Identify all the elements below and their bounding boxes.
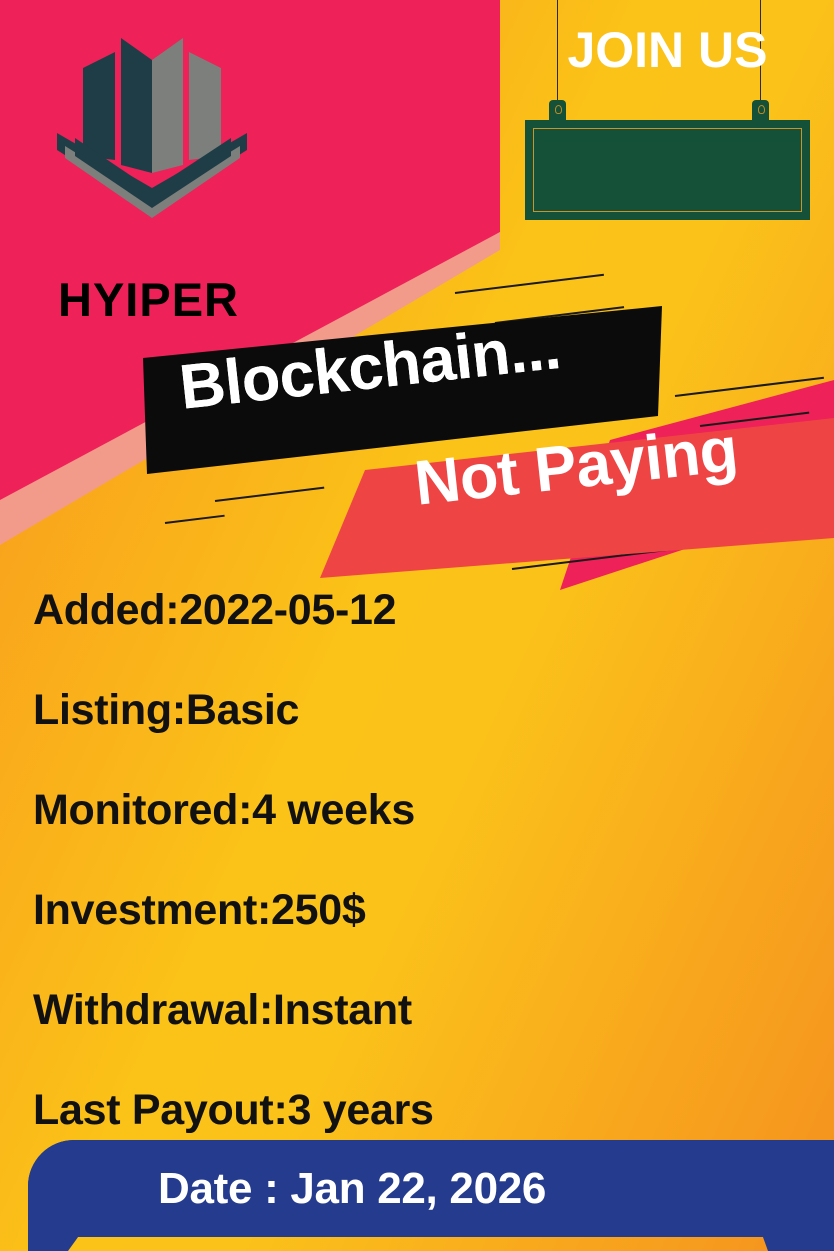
detail-label: Last Payout bbox=[33, 1086, 273, 1135]
sign-board bbox=[525, 120, 810, 220]
brand-name: HYIPER bbox=[58, 272, 239, 327]
details-list: Added : 2022-05-12 Listing : Basic Monit… bbox=[33, 560, 813, 1160]
decorative-line bbox=[165, 515, 225, 524]
detail-label: Monitored bbox=[33, 786, 238, 835]
date-label: Date : Jan 22, 2026 bbox=[28, 1140, 834, 1237]
list-item: Investment : 250$ bbox=[33, 860, 813, 960]
building-blocks-logo-icon bbox=[55, 38, 260, 243]
detail-separator: : bbox=[257, 886, 271, 935]
detail-value: 250$ bbox=[271, 886, 365, 935]
detail-separator: : bbox=[172, 686, 186, 735]
sign-inner-border bbox=[533, 128, 802, 212]
list-item: Added : 2022-05-12 bbox=[33, 560, 813, 660]
decorative-line bbox=[215, 487, 324, 502]
detail-value: Basic bbox=[186, 686, 299, 735]
detail-separator: : bbox=[259, 986, 273, 1035]
decorative-line bbox=[455, 274, 604, 294]
hyip-listing-card: HYIPER JOIN US Blockchain... Not Paying … bbox=[0, 0, 834, 1251]
join-us-sign[interactable]: JOIN US bbox=[525, 0, 810, 225]
detail-label: Withdrawal bbox=[33, 986, 259, 1035]
detail-separator: : bbox=[273, 1086, 287, 1135]
list-item: Monitored : 4 weeks bbox=[33, 760, 813, 860]
detail-separator: : bbox=[238, 786, 252, 835]
detail-value: 3 years bbox=[287, 1086, 433, 1135]
detail-separator: : bbox=[165, 586, 179, 635]
detail-label: Added bbox=[33, 586, 165, 635]
join-us-label: JOIN US bbox=[525, 0, 810, 100]
detail-label: Investment bbox=[33, 886, 257, 935]
detail-label: Listing bbox=[33, 686, 172, 735]
detail-value: 4 weeks bbox=[252, 786, 415, 835]
detail-value: Instant bbox=[273, 986, 412, 1035]
brand-logo bbox=[55, 38, 260, 243]
list-item: Listing : Basic bbox=[33, 660, 813, 760]
list-item: Withdrawal : Instant bbox=[33, 960, 813, 1060]
detail-value: 2022-05-12 bbox=[179, 586, 396, 635]
